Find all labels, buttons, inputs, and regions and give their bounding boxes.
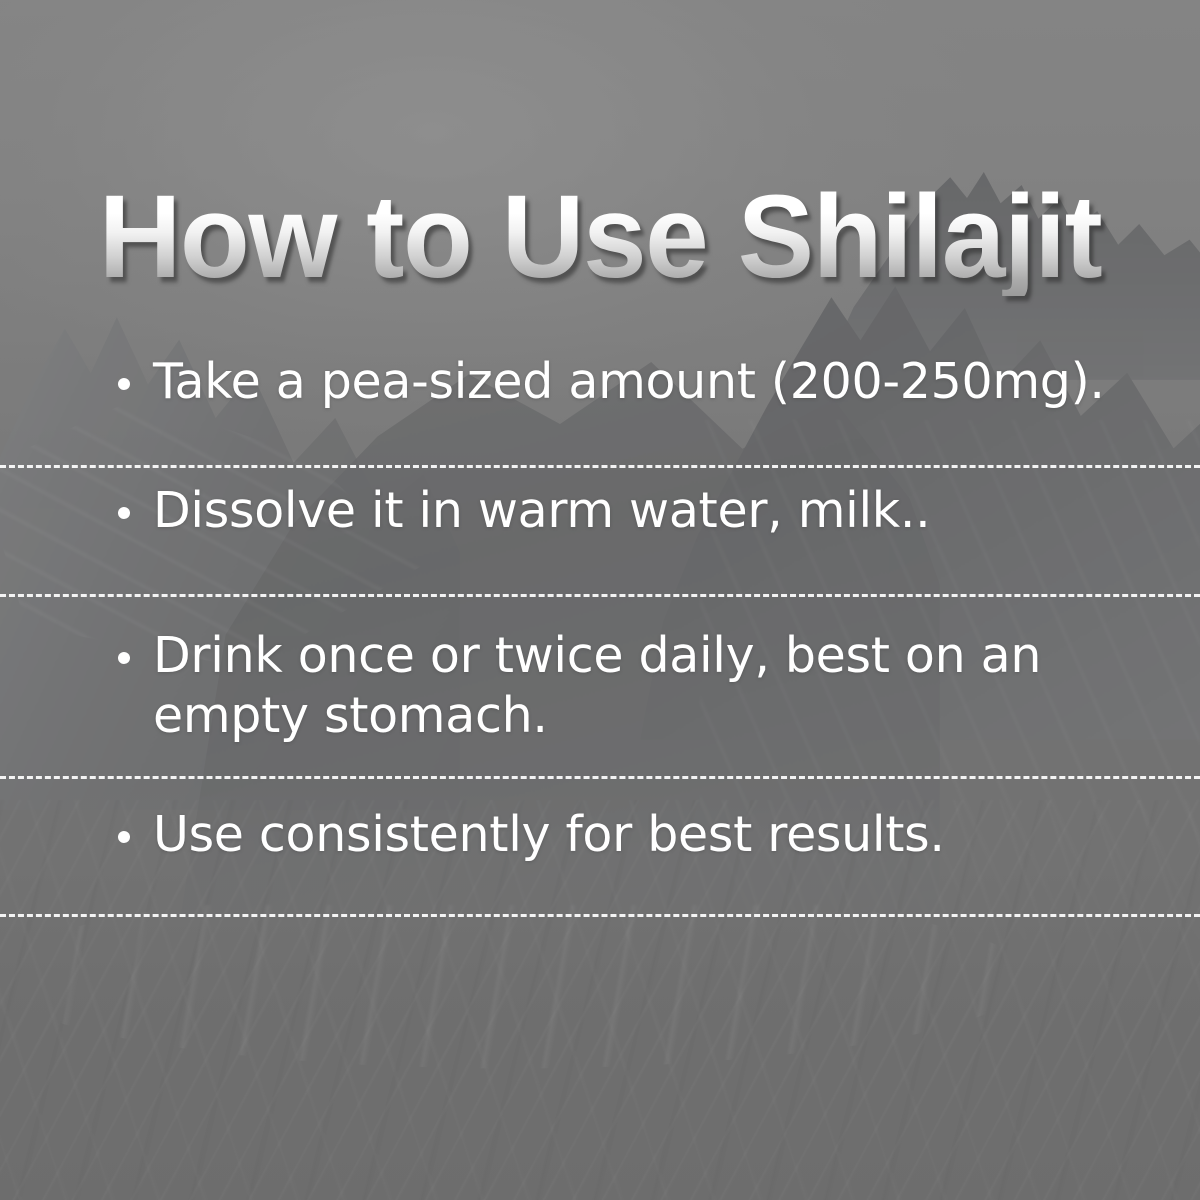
divider-line (0, 594, 1200, 597)
list-item-label: Take a pea-sized amount (200-250mg). (153, 352, 1140, 412)
list-item: Take a pea-sized amount (200-250mg). (0, 352, 1200, 412)
list-item: Drink once or twice daily, best on an em… (0, 626, 1200, 746)
list-item-label: Drink once or twice daily, best on an em… (153, 626, 1140, 746)
list-item: Use consistently for best results. (0, 805, 1200, 865)
bullet-dot-icon (118, 831, 130, 843)
page-title: How to Use Shilajit (18, 178, 1182, 296)
list-item-row: Dissolve it in warm water, milk.. (0, 481, 1200, 541)
shilajit-instructions-poster: How to Use Shilajit Take a pea-sized amo… (0, 0, 1200, 1200)
divider-line (0, 776, 1200, 779)
bullet-dot-icon (118, 652, 130, 664)
list-item-row: Take a pea-sized amount (200-250mg). (0, 352, 1200, 412)
bullet-dot-icon (118, 507, 130, 519)
list-item-row: Use consistently for best results. (0, 805, 1200, 865)
list-item-label: Dissolve it in warm water, milk.. (153, 481, 1140, 541)
list-item-label: Use consistently for best results. (153, 805, 1140, 865)
poster-content: How to Use Shilajit Take a pea-sized amo… (0, 0, 1200, 1200)
list-item-row: Drink once or twice daily, best on an em… (0, 626, 1200, 746)
list-item: Dissolve it in warm water, milk.. (0, 481, 1200, 541)
bullet-dot-icon (118, 378, 130, 390)
divider-line (0, 465, 1200, 468)
divider-line (0, 914, 1200, 917)
